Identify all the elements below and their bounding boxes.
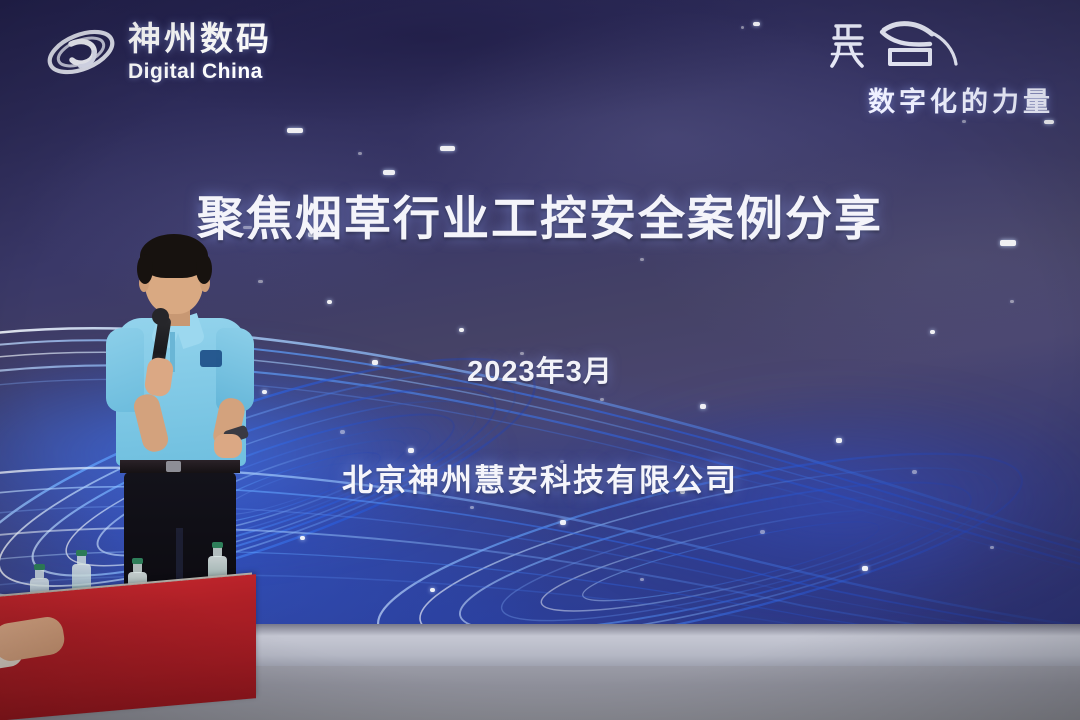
- speaker-shirt-logo: [200, 350, 222, 367]
- digital-china-logo: 神州数码 Digital China: [44, 22, 272, 82]
- speaker-hair-side-right: [196, 254, 212, 284]
- event-logo: 数字化的力量: [798, 14, 1058, 114]
- speaker-hand-right: [214, 434, 242, 458]
- speaker-belt-buckle: [166, 461, 181, 472]
- digital-china-spiral-logo-icon: [44, 22, 118, 82]
- speaker-hair-side-left: [137, 254, 153, 284]
- brand-name-en: Digital China: [128, 61, 272, 82]
- event-subtitle: 数字化的力量: [868, 80, 1054, 119]
- speaker-presenter: [92, 228, 268, 624]
- digital-china-wordmark: 神州数码 Digital China: [128, 22, 272, 82]
- conference-stage-photo: 聚焦烟草行业工控安全案例分享 2023年3月 北京神州慧安科技有限公司 神州数码…: [0, 0, 1080, 720]
- juhe-calligraphy-icon: [826, 16, 976, 78]
- brand-name-cn: 神州数码: [128, 22, 272, 55]
